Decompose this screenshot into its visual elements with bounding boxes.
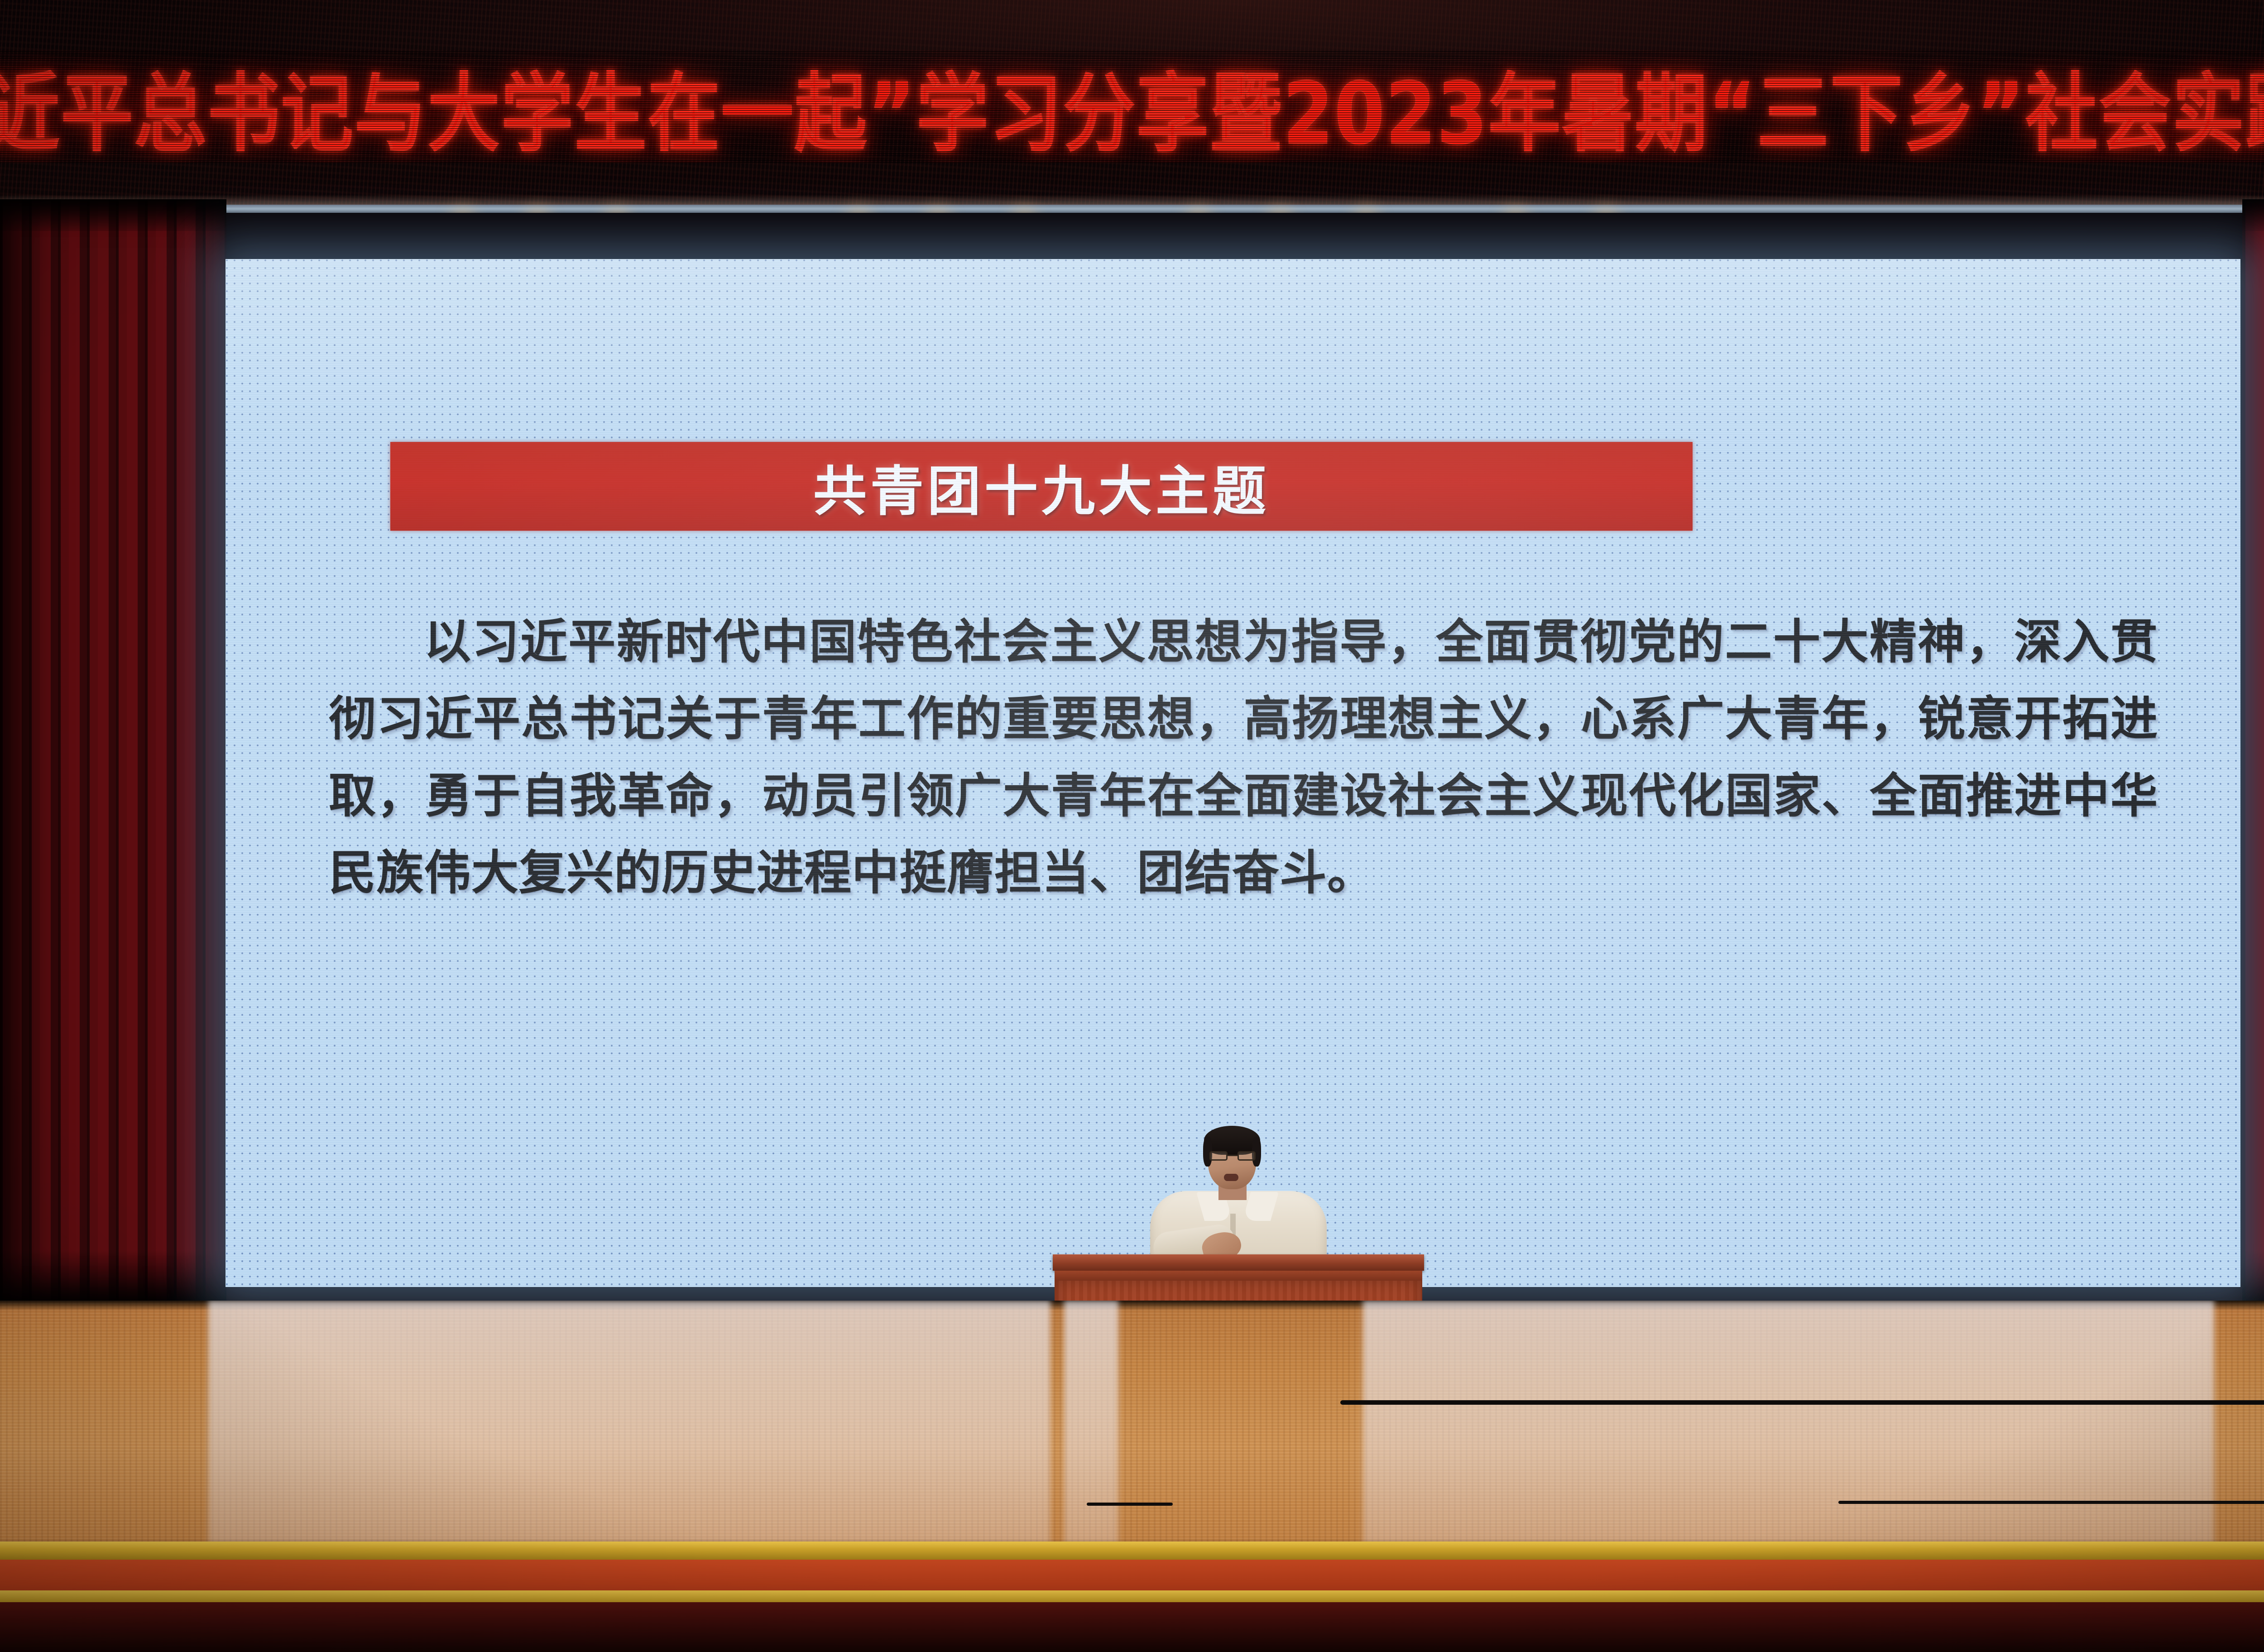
slide-title-text: 共青团十九大主题 — [813, 448, 1270, 525]
floor-cable-stub — [1087, 1503, 1173, 1506]
floor-light-pool-right — [1363, 1301, 2214, 1545]
speaker-person — [1053, 1123, 1424, 1268]
wall-band-top — [0, 213, 2264, 263]
stage-curtain-right — [2242, 199, 2264, 1304]
speaker-mouth — [1224, 1174, 1238, 1181]
podium-rail — [1055, 1271, 1422, 1281]
floor-cable-main — [1340, 1400, 2264, 1405]
stage-curtain-left — [0, 199, 226, 1304]
floor-light-pool-left — [208, 1301, 1050, 1545]
eyeglass-bridge — [1228, 1155, 1238, 1156]
podium-desktop-surface — [1053, 1254, 1424, 1271]
auditorium-stage-scene: “习近平总书记与大学生在一起”学习分享暨2023年暑期“三下乡”社会实践出征仪式… — [0, 0, 2264, 1652]
stage-floor — [0, 1301, 2264, 1545]
slide-title-banner: 共青团十九大主题 — [390, 442, 1693, 531]
curtain-bottom-shade-left — [0, 1250, 226, 1304]
curtain-top-fold-right — [2242, 199, 2264, 231]
led-marquee-banner: “习近平总书记与大学生在一起”学习分享暨2023年暑期“三下乡”社会实践出征仪式 — [0, 50, 2264, 163]
slide-body-paragraph: 以习近平新时代中国特色社会主义思想为指导，全面贯彻党的二十大精神，深入贯彻习近平… — [329, 603, 2158, 911]
truss-shadow — [0, 195, 2264, 206]
led-banner-text: “习近平总书记与大学生在一起”学习分享暨2023年暑期“三下乡”社会实践出征仪式 — [0, 50, 2264, 163]
stage-apron-gold-trim — [0, 1590, 2264, 1602]
eyeglasses-icon — [1209, 1151, 1256, 1161]
curtain-bottom-shade-right — [2242, 1250, 2264, 1304]
floor-cable-secondary — [1838, 1501, 2264, 1504]
stage-lip-gold-trim — [0, 1542, 2264, 1560]
eyeglass-lens-left — [1209, 1151, 1228, 1161]
eyeglass-lens-right — [1238, 1151, 1256, 1161]
orchestra-pit-shadow — [0, 1602, 2264, 1652]
slide-body-text: 以习近平新时代中国特色社会主义思想为指导，全面贯彻党的二十大精神，深入贯彻习近平… — [329, 603, 2158, 911]
floor-light-pool-center — [1064, 1301, 1118, 1545]
curtain-top-fold-left — [0, 199, 226, 231]
